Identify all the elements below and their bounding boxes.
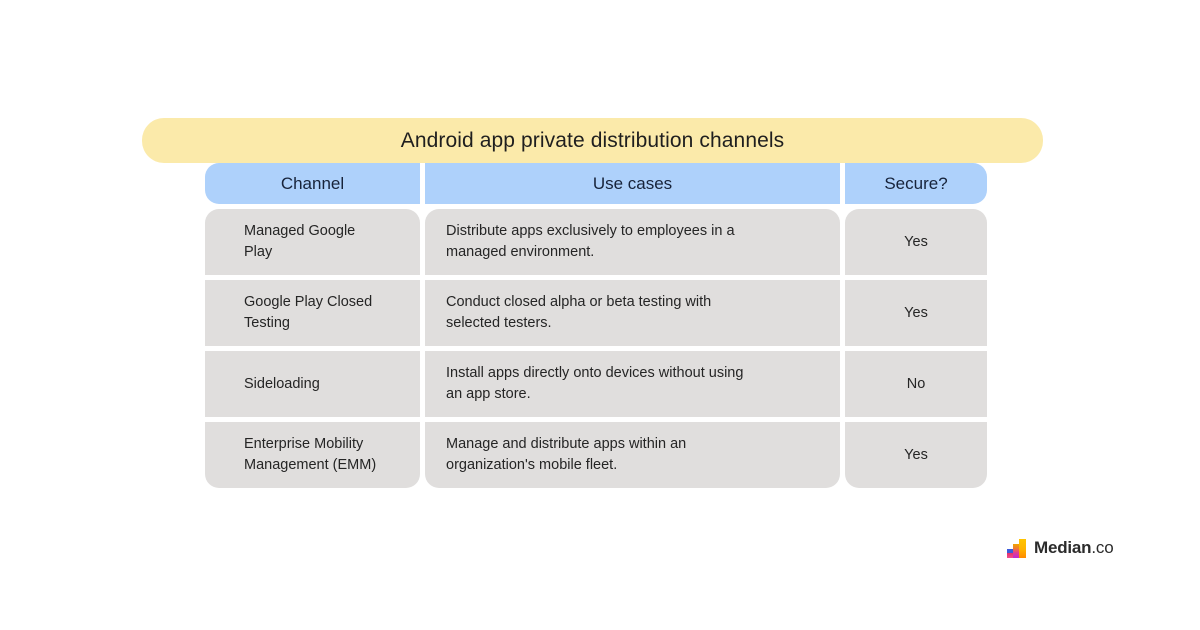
title-band: Android app private distribution channel… xyxy=(142,118,1043,163)
cell-secure: Yes xyxy=(845,209,987,275)
cell-channel-line2: Testing xyxy=(244,313,420,334)
distribution-channels-table: Channel Use cases Secure? Managed Google… xyxy=(205,163,987,493)
table-row: Google Play Closed Testing Conduct close… xyxy=(205,280,987,346)
table-header-row: Channel Use cases Secure? xyxy=(205,163,987,204)
cell-use-cases-line2: selected testers. xyxy=(446,313,840,334)
table-row: Enterprise Mobility Management (EMM) Man… xyxy=(205,422,987,488)
table-row: Sideloading Install apps directly onto d… xyxy=(205,351,987,417)
cell-channel-line2: Play xyxy=(244,242,420,263)
logo-bar-right xyxy=(1019,539,1026,558)
cell-use-cases-line1: Conduct closed alpha or beta testing wit… xyxy=(446,292,840,313)
cell-use-cases-line1: Distribute apps exclusively to employees… xyxy=(446,221,840,242)
cell-secure: Yes xyxy=(845,422,987,488)
column-header-channel: Channel xyxy=(205,163,420,204)
cell-channel-line1: Sideloading xyxy=(244,374,420,395)
cell-channel: Sideloading xyxy=(205,351,420,417)
cell-secure: Yes xyxy=(845,280,987,346)
cell-use-cases: Conduct closed alpha or beta testing wit… xyxy=(425,280,840,346)
logo-word-main: Median xyxy=(1034,538,1091,558)
cell-use-cases-line2: an app store. xyxy=(446,384,840,405)
cell-channel-line2: Management (EMM) xyxy=(244,455,420,476)
cell-channel-line1: Google Play Closed xyxy=(244,292,420,313)
cell-use-cases-line1: Manage and distribute apps within an xyxy=(446,434,840,455)
column-header-use-cases: Use cases xyxy=(425,163,840,204)
cell-use-cases-line1: Install apps directly onto devices witho… xyxy=(446,363,840,384)
cell-channel-line1: Managed Google xyxy=(244,221,420,242)
median-logo: Median .co xyxy=(1007,536,1113,560)
median-bar-chart-icon xyxy=(1007,539,1026,558)
column-header-secure: Secure? xyxy=(845,163,987,204)
cell-use-cases: Install apps directly onto devices witho… xyxy=(425,351,840,417)
cell-use-cases-line2: managed environment. xyxy=(446,242,840,263)
cell-channel-line1: Enterprise Mobility xyxy=(244,434,420,455)
cell-use-cases: Distribute apps exclusively to employees… xyxy=(425,209,840,275)
logo-word-tld: .co xyxy=(1091,538,1113,558)
page-title: Android app private distribution channel… xyxy=(401,130,785,151)
cell-use-cases: Manage and distribute apps within an org… xyxy=(425,422,840,488)
cell-channel: Google Play Closed Testing xyxy=(205,280,420,346)
cell-use-cases-line2: organization's mobile fleet. xyxy=(446,455,840,476)
cell-channel: Managed Google Play xyxy=(205,209,420,275)
table-row: Managed Google Play Distribute apps excl… xyxy=(205,209,987,275)
median-wordmark: Median .co xyxy=(1034,538,1113,558)
cell-secure: No xyxy=(845,351,987,417)
cell-channel: Enterprise Mobility Management (EMM) xyxy=(205,422,420,488)
